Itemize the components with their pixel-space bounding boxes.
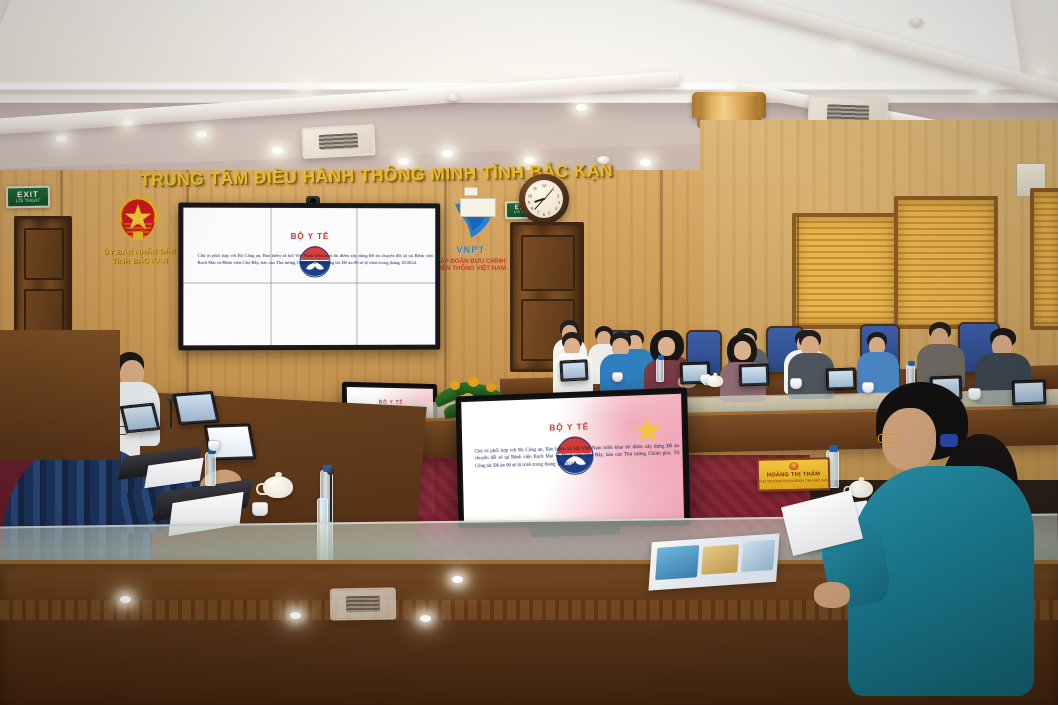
ceiling-downlight [978, 87, 989, 94]
vnpt-subtitle: TẬP ĐOÀN BƯU CHÍNH VIỄN THÔNG VIỆT NAM [430, 258, 512, 273]
ceiling-downlight [442, 150, 453, 157]
agency-line-2: TỈNH BẮC KẠN [102, 256, 178, 267]
water-bottle[interactable] [656, 358, 664, 382]
eyeglasses-icon [878, 434, 900, 443]
slide-body-text: Chủ trì phối hợp với Bộ Công an, Bảo hiể… [198, 253, 434, 266]
svg-text:4: 4 [555, 206, 558, 211]
ceiling-downlight [1036, 67, 1047, 74]
door-panel [24, 228, 64, 280]
clock-face: 1212 345 678 91011 [525, 180, 563, 218]
ceiling-downlight [300, 82, 311, 89]
svg-text:11: 11 [533, 186, 537, 191]
laptop-screen-display [829, 371, 854, 388]
brochure-photo [655, 545, 699, 580]
brochure[interactable] [648, 533, 779, 590]
flower-bud [486, 383, 496, 392]
laptop[interactable] [1012, 379, 1047, 405]
ceiling-downlight [122, 119, 133, 126]
slide-body-text: Chủ trì phối hợp với Bộ Công an, Bảo hiể… [475, 443, 680, 470]
bottle-cap [658, 355, 664, 360]
air-conditioner-ceiling-unit [301, 124, 376, 159]
table-recess-grille [330, 587, 397, 620]
microphone-stem[interactable] [170, 400, 172, 428]
hair-tie [940, 434, 958, 447]
svg-text:5: 5 [548, 211, 550, 216]
laptop-screen-display [1015, 383, 1044, 403]
agency-sign: ỦY BAN NHÂN DÂN TỈNH BẮC KẠN [102, 246, 179, 277]
tea-cup[interactable] [862, 382, 874, 393]
laptop[interactable] [826, 367, 857, 390]
vnpt-wordmark: VNPT [440, 245, 502, 255]
table-reflection-light [120, 596, 131, 603]
svg-text:7: 7 [537, 211, 539, 216]
tea-cup[interactable] [252, 502, 268, 516]
svg-text:2: 2 [557, 194, 559, 199]
svg-text:10: 10 [528, 194, 532, 199]
microphone-head-icon [327, 468, 334, 475]
teapot[interactable] [707, 375, 724, 387]
video-wall-bezel-v [356, 208, 358, 345]
laptop-screen-display [123, 406, 156, 430]
laptop[interactable] [173, 391, 220, 425]
teapot[interactable] [263, 476, 293, 498]
ceiling-downlight [576, 104, 587, 111]
wall-camera-icon [306, 196, 320, 205]
laptop[interactable] [559, 359, 588, 381]
tea-cup[interactable] [790, 378, 802, 389]
table-reflection-light [290, 612, 301, 619]
tea-cup[interactable] [968, 388, 981, 400]
door-notice [464, 187, 478, 196]
exit-sign-left: EXIT LỐI THOÁT [6, 186, 50, 209]
door-panel [521, 235, 575, 291]
exit-sublabel: LỐI THOÁT [16, 198, 40, 203]
nameplate-emblem-icon [789, 462, 798, 470]
ceiling-downlight [272, 147, 283, 154]
wall-clock: 1212 345 678 91011 [519, 174, 569, 224]
water-bottle[interactable] [205, 452, 216, 486]
svg-text:8: 8 [531, 206, 533, 211]
svg-text:12: 12 [542, 183, 546, 188]
ceiling-downlight [840, 47, 851, 54]
tea-cup[interactable] [612, 372, 623, 382]
video-wall-bezel-h [183, 282, 435, 284]
laptop[interactable] [120, 403, 161, 434]
svg-text:6: 6 [543, 212, 545, 217]
video-wall-bezel-v [270, 208, 272, 345]
blinds-cord[interactable] [797, 216, 799, 328]
smoke-detector-icon [910, 18, 923, 26]
laptop-screen-display [563, 362, 586, 378]
video-wall-display[interactable]: BỘ Y TẾ Chủ trì phối hợp với Bộ Công an,… [178, 203, 440, 351]
svg-text:9: 9 [528, 200, 530, 205]
table-reflection-light [452, 576, 463, 583]
laptop-screen-display [742, 367, 767, 384]
bottle-cap [829, 445, 838, 452]
vietnam-national-emblem-icon [112, 196, 164, 246]
left-wall-wainscot [0, 330, 120, 460]
tea-cup[interactable] [208, 440, 220, 451]
flower-bud [468, 377, 479, 387]
laptop[interactable] [739, 363, 770, 386]
bottle-cap [908, 361, 915, 366]
front-tv-display[interactable]: ★ BỘ Y TẾ Chủ trì phối hợp với Bộ Công a… [455, 387, 690, 528]
svg-text:3: 3 [558, 200, 560, 205]
nameplate-role: PHÓ TRƯỞNG ĐOÀN ĐBQH TỈNH BẮC KẠN [759, 479, 829, 484]
window-blinds-far-right[interactable] [1030, 188, 1058, 330]
flower-bud [450, 381, 460, 390]
ceiling-downlight [640, 159, 651, 166]
hand [814, 582, 850, 608]
video-wall-screen: BỘ Y TẾ Chủ trì phối hợp với Bộ Công an,… [183, 208, 435, 346]
brochure-photo [701, 544, 739, 575]
door-notice [460, 198, 496, 217]
brochure-photo [741, 540, 775, 572]
ceiling-downlight [56, 135, 67, 142]
nameplate-name: HOÀNG THỊ THẮM [767, 471, 820, 478]
slide-brand-title: BỘ Y TẾ [183, 232, 435, 241]
ceiling-downlight [196, 131, 207, 138]
smoke-detector-icon [447, 93, 460, 101]
window-blinds-left[interactable] [792, 213, 898, 329]
front-tv-screen: ★ BỘ Y TẾ Chủ trì phối hợp với Bộ Công a… [461, 394, 684, 523]
conference-room-scene: TRUNG TÂM ĐIỀU HÀNH THÔNG MINH TỈNH BẮC … [0, 0, 1058, 705]
microphone-head-icon [167, 395, 174, 402]
teapot[interactable] [849, 480, 873, 498]
laptop-screen-display [176, 394, 216, 422]
delegate-nameplate: HOÀNG THỊ THẮM PHÓ TRƯỞNG ĐOÀN ĐBQH TỈNH… [757, 457, 831, 492]
microphone-stem[interactable] [330, 474, 332, 522]
window-blinds-right[interactable] [894, 196, 998, 329]
vnpt-sub-line-2: VIỄN THÔNG VIỆT NAM [430, 265, 512, 272]
table-reflection-light [420, 615, 431, 622]
head [734, 341, 751, 360]
head [658, 337, 675, 356]
